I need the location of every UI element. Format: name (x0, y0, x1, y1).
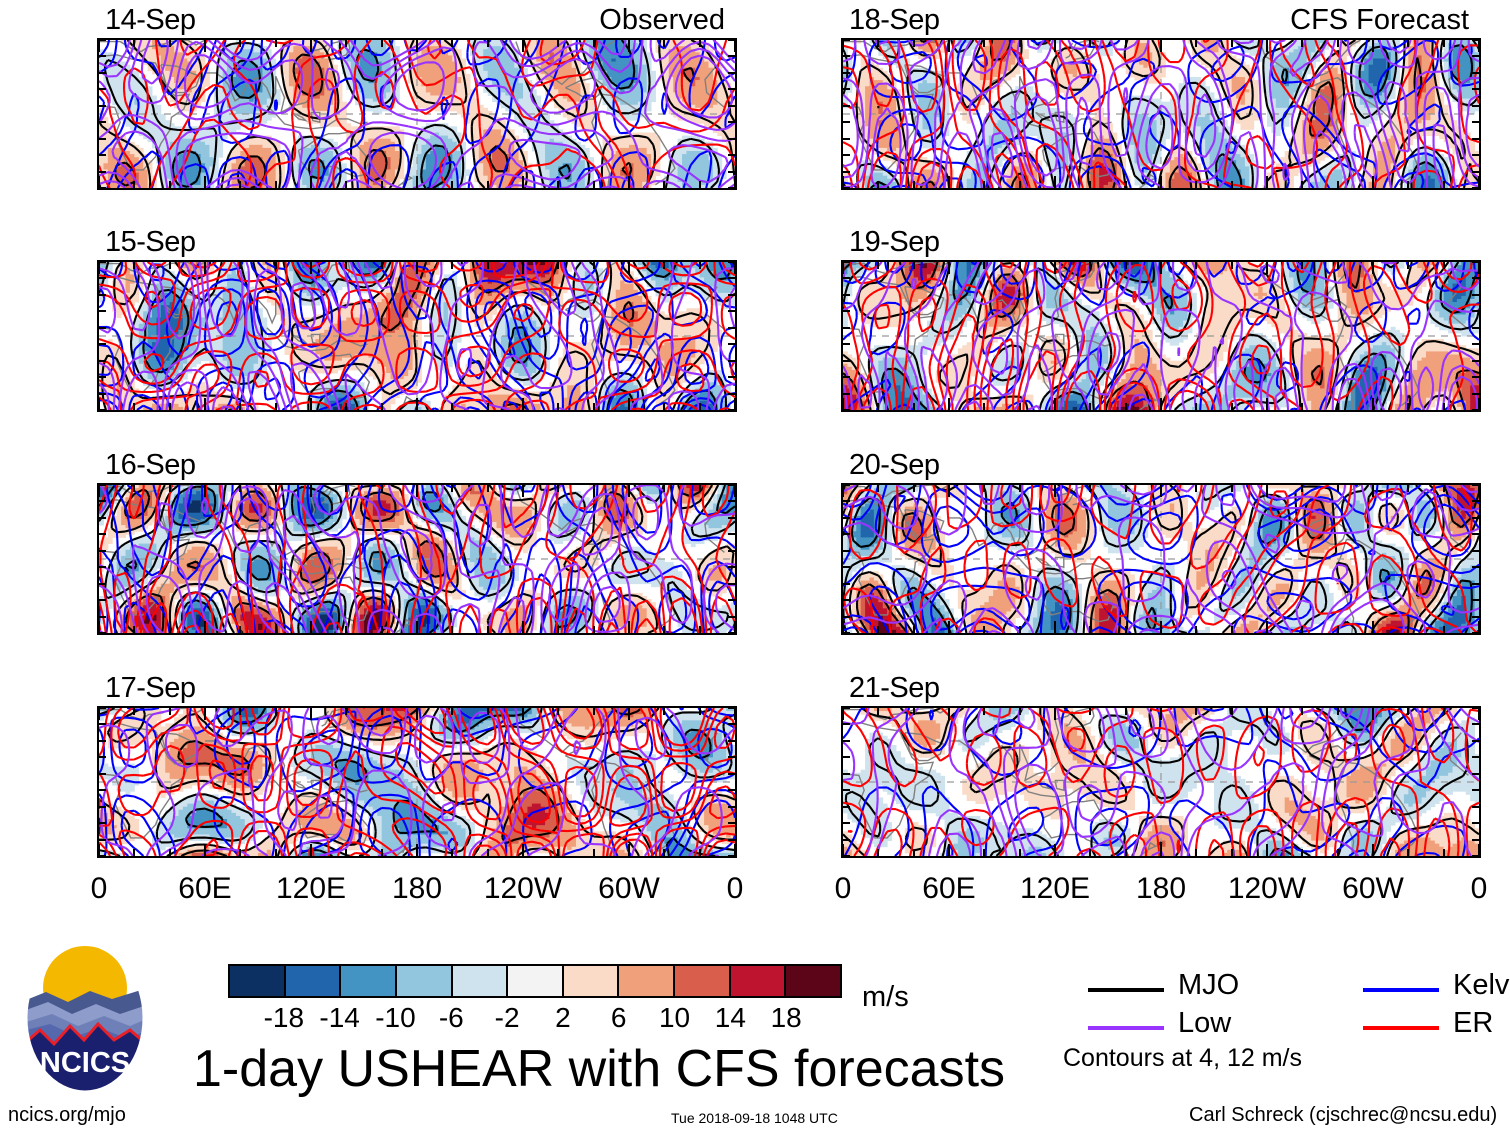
panel-date-label: 20-Sep (849, 449, 940, 482)
x-tick (487, 181, 489, 188)
y-tick (1472, 550, 1479, 552)
y-tick (728, 171, 735, 173)
y-tick (843, 327, 850, 329)
legend-line-swatch (1363, 988, 1439, 992)
x-tick (913, 626, 915, 633)
y-tick (843, 55, 850, 57)
x-tick (983, 181, 985, 188)
x-tick (593, 181, 595, 188)
panel-date-label: 19-Sep (849, 226, 940, 259)
x-tick (204, 398, 206, 410)
x-tick (416, 176, 418, 188)
y-tick (843, 121, 850, 123)
y-tick (843, 376, 850, 378)
x-tick (345, 262, 347, 269)
x-tick (169, 849, 171, 856)
x-tick (1407, 849, 1409, 856)
x-tick (1089, 403, 1091, 410)
y-tick (1472, 171, 1479, 173)
x-tick (734, 485, 736, 497)
y-tick (843, 550, 850, 552)
y-tick (728, 376, 735, 378)
y-tick (99, 88, 106, 90)
x-tick (1195, 40, 1197, 47)
x-tick (734, 262, 736, 274)
x-tick (699, 485, 701, 492)
y-tick (728, 723, 735, 725)
x-tick (1301, 485, 1303, 492)
y-tick (843, 616, 850, 618)
y-tick (1472, 138, 1479, 140)
x-tick (1019, 708, 1021, 715)
x-tick (1160, 621, 1162, 633)
x-tick (345, 849, 347, 856)
x-tick (133, 626, 135, 633)
x-tick (983, 40, 985, 47)
y-tick (1472, 294, 1479, 296)
y-tick (99, 294, 106, 296)
x-tick (133, 40, 135, 47)
x-tick (948, 621, 950, 633)
x-tick (204, 262, 206, 274)
x-tick (239, 849, 241, 856)
main-title: 1-day USHEAR with CFS forecasts (193, 1039, 1005, 1099)
x-tick (133, 181, 135, 188)
x-tick (877, 403, 879, 410)
x-tick (593, 708, 595, 715)
x-tick (169, 181, 171, 188)
y-tick (1472, 773, 1479, 775)
x-tick (381, 403, 383, 410)
x-axis-tick-label: 120E (995, 872, 1115, 906)
y-tick (1472, 310, 1479, 312)
y-tick (843, 105, 850, 107)
x-tick (557, 40, 559, 47)
x-axis-tick-label: 60E (145, 872, 265, 906)
x-tick (593, 262, 595, 269)
x-tick (1443, 849, 1445, 856)
x-tick (1125, 485, 1127, 492)
y-tick (99, 343, 106, 345)
x-tick (239, 262, 241, 269)
y-tick (1472, 822, 1479, 824)
x-tick (1407, 485, 1409, 492)
x-tick (1372, 621, 1374, 633)
x-axis-tick-label: 0 (783, 872, 903, 906)
x-tick (628, 398, 630, 410)
y-tick (728, 822, 735, 824)
y-tick (728, 500, 735, 502)
x-tick (1337, 262, 1339, 269)
x-tick (628, 621, 630, 633)
x-tick (416, 708, 418, 720)
x-tick (1372, 708, 1374, 720)
panel-date-label: 17-Sep (105, 672, 196, 705)
x-tick (487, 849, 489, 856)
x-tick (628, 708, 630, 720)
ncics-logo-text: NCICS (40, 1047, 130, 1079)
y-tick (1472, 500, 1479, 502)
y-tick (99, 484, 106, 486)
x-tick (98, 40, 100, 52)
x-tick (1089, 708, 1091, 715)
y-tick (843, 360, 850, 362)
x-tick (1478, 398, 1480, 410)
map-panel-16-sep (97, 483, 737, 635)
x-tick (983, 262, 985, 269)
y-tick (99, 773, 106, 775)
x-tick (948, 398, 950, 410)
x-tick (169, 708, 171, 715)
x-tick (239, 626, 241, 633)
x-tick (416, 262, 418, 274)
x-tick (948, 262, 950, 274)
y-tick (1472, 723, 1479, 725)
x-tick (1266, 485, 1268, 497)
y-tick (843, 756, 850, 758)
x-tick (1478, 176, 1480, 188)
y-tick (728, 294, 735, 296)
x-tick (1443, 626, 1445, 633)
x-tick (1054, 398, 1056, 410)
x-tick (1195, 403, 1197, 410)
x-tick (204, 708, 206, 720)
y-tick (728, 583, 735, 585)
y-tick (99, 789, 106, 791)
x-tick (1443, 181, 1445, 188)
x-tick (1266, 40, 1268, 52)
x-axis-tick-label: 0 (1419, 872, 1510, 906)
x-axis-tick-label: 120W (1207, 872, 1327, 906)
x-tick (913, 403, 915, 410)
y-tick (728, 566, 735, 568)
y-tick (843, 789, 850, 791)
x-tick (451, 181, 453, 188)
y-tick (1472, 616, 1479, 618)
x-tick (1337, 849, 1339, 856)
x-tick (522, 262, 524, 274)
y-tick (843, 839, 850, 841)
x-tick (699, 403, 701, 410)
x-tick (913, 262, 915, 269)
x-axis-tick-label: 180 (1101, 872, 1221, 906)
x-tick (1019, 626, 1021, 633)
y-tick (99, 187, 106, 189)
x-tick (1478, 844, 1480, 856)
y-tick (843, 409, 850, 411)
x-tick (1019, 849, 1021, 856)
x-tick (948, 708, 950, 720)
x-tick (877, 626, 879, 633)
x-tick (275, 40, 277, 47)
x-tick (1019, 40, 1021, 47)
legend-line-swatch (1088, 988, 1164, 992)
y-tick (843, 294, 850, 296)
x-axis-tick-label: 120W (463, 872, 583, 906)
y-tick (728, 773, 735, 775)
x-tick (1089, 485, 1091, 492)
y-tick (843, 310, 850, 312)
x-tick (1089, 849, 1091, 856)
x-tick (1054, 262, 1056, 274)
y-tick (843, 500, 850, 502)
x-tick (133, 708, 135, 715)
map-panel-21-sep (841, 706, 1481, 858)
x-axis-tick-label: 60E (889, 872, 1009, 906)
x-tick (1266, 398, 1268, 410)
y-tick (843, 822, 850, 824)
x-tick (983, 849, 985, 856)
x-tick (1231, 403, 1233, 410)
x-tick (1372, 844, 1374, 856)
x-tick (416, 621, 418, 633)
x-tick (1089, 262, 1091, 269)
x-tick (1478, 40, 1480, 52)
x-tick (275, 626, 277, 633)
legend-label: Low (1178, 1007, 1231, 1040)
x-tick (1443, 403, 1445, 410)
x-tick (663, 849, 665, 856)
y-tick (1472, 343, 1479, 345)
x-tick (239, 485, 241, 492)
x-tick (1301, 708, 1303, 715)
x-tick (593, 40, 595, 47)
x-tick (948, 844, 950, 856)
x-tick (699, 849, 701, 856)
x-tick (522, 176, 524, 188)
x-tick (381, 262, 383, 269)
y-tick (843, 187, 850, 189)
x-tick (204, 844, 206, 856)
x-tick (98, 621, 100, 633)
x-tick (1337, 708, 1339, 715)
x-tick (1407, 403, 1409, 410)
y-tick (728, 789, 735, 791)
y-tick (1472, 599, 1479, 601)
x-tick (1054, 844, 1056, 856)
x-tick (948, 176, 950, 188)
y-tick (99, 376, 106, 378)
x-tick (1231, 626, 1233, 633)
y-tick (728, 154, 735, 156)
x-tick (1125, 181, 1127, 188)
x-tick (1054, 708, 1056, 720)
x-tick (877, 485, 879, 492)
y-tick (99, 533, 106, 535)
x-tick (557, 849, 559, 856)
x-axis-tick-label: 60W (569, 872, 689, 906)
y-tick (728, 599, 735, 601)
x-tick (169, 485, 171, 492)
x-tick (1054, 176, 1056, 188)
colorbar-band-4 (453, 966, 509, 996)
y-tick (1472, 566, 1479, 568)
x-tick (1019, 181, 1021, 188)
panel-date-label: 14-Sep (105, 4, 196, 37)
y-tick (99, 261, 106, 263)
panel-date-label: 21-Sep (849, 672, 940, 705)
y-tick (1472, 277, 1479, 279)
x-tick (133, 485, 135, 492)
y-tick (843, 171, 850, 173)
x-tick (275, 262, 277, 269)
x-tick (913, 708, 915, 715)
x-tick (1372, 485, 1374, 497)
x-tick (487, 403, 489, 410)
y-tick (99, 632, 106, 634)
x-tick (133, 403, 135, 410)
x-tick (983, 485, 985, 492)
x-tick (983, 626, 985, 633)
y-tick (99, 121, 106, 123)
legend-line-swatch (1088, 1026, 1164, 1030)
x-tick (734, 708, 736, 720)
y-tick (1472, 72, 1479, 74)
x-tick (310, 262, 312, 274)
footer-left-url[interactable]: ncics.org/mjo (8, 1104, 126, 1127)
x-tick (1266, 621, 1268, 633)
x-tick (381, 849, 383, 856)
x-tick (1089, 40, 1091, 47)
legend-label: Kelvin x2 (1453, 969, 1510, 1002)
x-tick (913, 40, 915, 47)
x-tick (451, 262, 453, 269)
y-tick (1472, 393, 1479, 395)
y-tick (99, 55, 106, 57)
x-tick (381, 626, 383, 633)
x-tick (842, 485, 844, 497)
x-tick (169, 626, 171, 633)
x-tick (310, 621, 312, 633)
x-tick (1478, 485, 1480, 497)
x-tick (487, 262, 489, 269)
x-tick (1231, 485, 1233, 492)
y-tick (728, 55, 735, 57)
y-tick (99, 707, 106, 709)
y-tick (1472, 360, 1479, 362)
y-tick (728, 72, 735, 74)
y-tick (843, 343, 850, 345)
y-tick (99, 566, 106, 568)
x-tick (842, 708, 844, 720)
y-tick (728, 121, 735, 123)
x-tick (842, 40, 844, 52)
x-axis-tick-label: 60W (1313, 872, 1433, 906)
y-tick (843, 138, 850, 140)
x-tick (1443, 485, 1445, 492)
x-tick (310, 485, 312, 497)
x-tick (1160, 176, 1162, 188)
x-tick (1266, 262, 1268, 274)
x-tick (628, 176, 630, 188)
x-tick (1372, 262, 1374, 274)
x-tick (1443, 708, 1445, 715)
x-tick (345, 403, 347, 410)
y-tick (843, 707, 850, 709)
x-tick (877, 708, 879, 715)
x-tick (628, 844, 630, 856)
y-tick (728, 533, 735, 535)
x-tick (1301, 626, 1303, 633)
x-tick (663, 181, 665, 188)
x-tick (1407, 181, 1409, 188)
y-tick (843, 632, 850, 634)
x-tick (522, 485, 524, 497)
y-tick (99, 500, 106, 502)
legend-label: ER (1453, 1007, 1493, 1040)
x-tick (1478, 621, 1480, 633)
x-tick (913, 485, 915, 492)
x-tick (593, 403, 595, 410)
x-tick (169, 403, 171, 410)
y-tick (99, 616, 106, 618)
x-tick (1195, 708, 1197, 715)
x-tick (416, 485, 418, 497)
x-tick (1337, 181, 1339, 188)
x-tick (663, 262, 665, 269)
column-header-cfs-forecast: CFS Forecast (1290, 4, 1469, 37)
x-tick (842, 176, 844, 188)
map-panel-20-sep (841, 483, 1481, 635)
footer-author-contact: Carl Schreck (cjschrec@ncsu.edu) (1189, 1104, 1497, 1127)
y-tick (728, 806, 735, 808)
x-tick (275, 485, 277, 492)
column-header-observed: Observed (599, 4, 725, 37)
x-tick (239, 708, 241, 715)
colorbar-band-2 (341, 966, 397, 996)
y-tick (843, 599, 850, 601)
x-tick (275, 181, 277, 188)
y-tick (843, 484, 850, 486)
panel-date-label: 16-Sep (105, 449, 196, 482)
x-tick (948, 485, 950, 497)
x-tick (98, 485, 100, 497)
x-tick (1160, 398, 1162, 410)
y-tick (843, 855, 850, 857)
x-tick (522, 844, 524, 856)
y-tick (843, 517, 850, 519)
x-tick (1019, 262, 1021, 269)
y-tick (728, 756, 735, 758)
y-tick (99, 409, 106, 411)
y-tick (728, 327, 735, 329)
ncics-logo[interactable]: NCICS (26, 944, 144, 1092)
y-tick (99, 105, 106, 107)
x-tick (628, 262, 630, 274)
x-tick (734, 40, 736, 52)
y-tick (843, 806, 850, 808)
colorbar-band-1 (286, 966, 342, 996)
colorbar-band-7 (619, 966, 675, 996)
x-tick (98, 262, 100, 274)
x-tick (1231, 181, 1233, 188)
x-tick (557, 262, 559, 269)
x-tick (1125, 262, 1127, 269)
x-tick (98, 708, 100, 720)
x-tick (663, 626, 665, 633)
x-tick (204, 176, 206, 188)
legend-line-swatch (1363, 1026, 1439, 1030)
y-tick (728, 517, 735, 519)
y-tick (728, 310, 735, 312)
x-tick (663, 485, 665, 492)
x-tick (1160, 262, 1162, 274)
x-tick (1301, 40, 1303, 47)
x-tick (1337, 403, 1339, 410)
x-tick (1372, 176, 1374, 188)
x-tick (1443, 40, 1445, 47)
x-tick (734, 621, 736, 633)
